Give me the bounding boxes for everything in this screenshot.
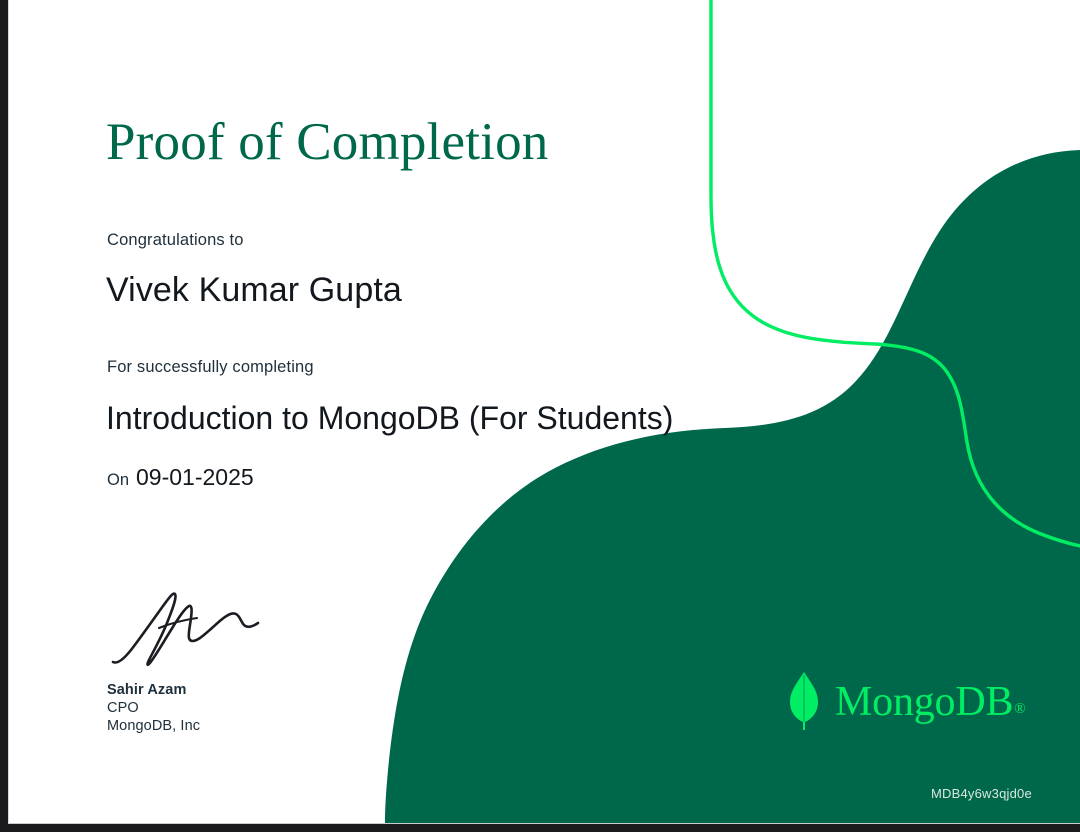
certificate-content: Proof of Completion Congratulations to V… — [9, 0, 1080, 823]
date-preposition: On — [107, 471, 129, 490]
trademark-icon: ® — [1014, 701, 1025, 717]
date-value: 09-01-2025 — [136, 464, 254, 491]
signature-icon — [101, 578, 266, 673]
recipient-name: Vivek Kumar Gupta — [106, 271, 402, 310]
completing-label: For successfully completing — [107, 358, 314, 377]
completion-date: On 09-01-2025 — [107, 464, 254, 491]
document-viewer: Proof of Completion Congratulations to V… — [0, 0, 1080, 832]
signer-title: CPO — [107, 699, 200, 717]
course-name: Introduction to MongoDB (For Students) — [106, 400, 673, 437]
congratulations-label: Congratulations to — [107, 231, 244, 250]
signer-block: Sahir Azam CPO MongoDB, Inc — [107, 681, 200, 735]
mongodb-wordmark-text: MongoDB — [835, 679, 1013, 725]
page-title: Proof of Completion — [106, 112, 549, 172]
mongodb-leaf-icon — [787, 672, 821, 730]
mongodb-logo-lockup: MongoDB® — [787, 672, 1025, 730]
certificate-id: MDB4y6w3qjd0e — [931, 786, 1032, 801]
signer-name: Sahir Azam — [107, 681, 200, 699]
certificate-page: Proof of Completion Congratulations to V… — [8, 0, 1080, 824]
mongodb-wordmark: MongoDB® — [835, 681, 1025, 723]
signer-company: MongoDB, Inc — [107, 717, 200, 735]
